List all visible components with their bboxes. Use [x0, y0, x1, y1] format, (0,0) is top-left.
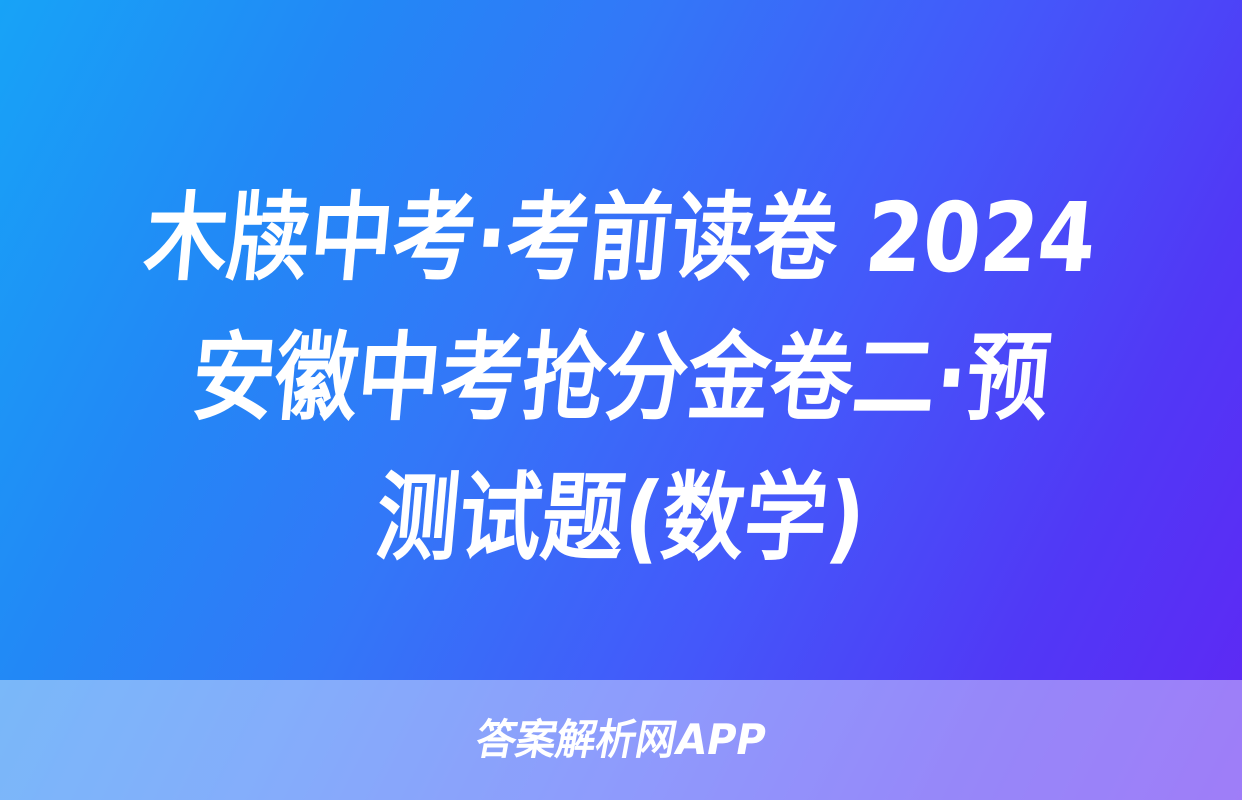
app-promo-banner: 答案解析网APP [0, 680, 1242, 800]
app-promo-label: 答案解析网APP [472, 716, 770, 764]
title-block: 木牍中考·考前读卷 2024 安徽中考抢分金卷二·预 测试题(数学) [0, 168, 1242, 588]
title-line-3: 测试题(数学) [371, 448, 872, 588]
poster-root: 木牍中考·考前读卷 2024 安徽中考抢分金卷二·预 测试题(数学) 答案解析网… [0, 0, 1242, 800]
title-line-1: 木牍中考·考前读卷 2024 [139, 168, 1102, 308]
title-line-2: 安徽中考抢分金卷二·预 [186, 308, 1056, 448]
